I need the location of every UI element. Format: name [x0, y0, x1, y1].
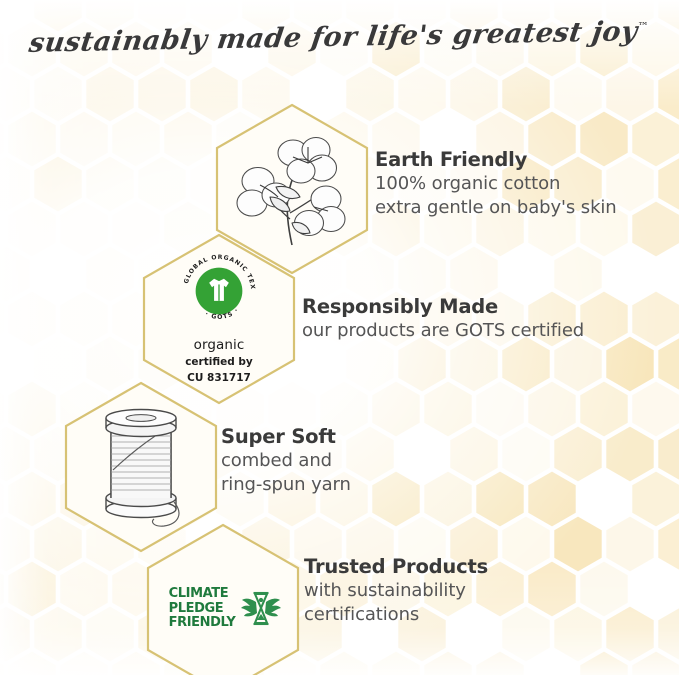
feature-caption-responsibly-made: Responsibly Made our products are GOTS c… — [302, 295, 584, 343]
feature-line: our products are GOTS certified — [302, 319, 584, 343]
gots-organic-label: organic — [194, 337, 245, 353]
climate-pledge-line-2: PLEDGE — [169, 602, 236, 617]
climate-pledge-line-3: FRIENDLY — [169, 616, 236, 631]
feature-caption-super-soft: Super Soft combed and ring-spun yarn — [221, 425, 351, 497]
infographic-panel: sustainably made for life's greatest joy… — [0, 0, 679, 675]
page-title: sustainably made for life's greatest joy… — [0, 22, 679, 53]
feature-title: Earth Friendly — [375, 148, 617, 172]
gots-certified-by: certified by — [185, 356, 253, 369]
feature-line: certifications — [304, 603, 488, 627]
winged-hourglass-icon — [241, 587, 281, 631]
headline-script-text: sustainably made for life's greatest joy — [27, 16, 640, 59]
climate-pledge-line-1: CLIMATE — [169, 587, 236, 602]
trademark-symbol: ™ — [638, 20, 649, 33]
feature-caption-trusted-products: Trusted Products with sustainability cer… — [304, 555, 488, 627]
feature-title: Trusted Products — [304, 555, 488, 579]
feature-line: with sustainability — [304, 579, 488, 603]
feature-line: combed and — [221, 449, 351, 473]
feature-line: ring-spun yarn — [221, 473, 351, 497]
feature-title: Responsibly Made — [302, 295, 584, 319]
feature-row-trusted-products: CLIMATE PLEDGE FRIENDLY — [145, 523, 655, 675]
feature-title: Super Soft — [221, 425, 351, 449]
feature-line: extra gentle on baby's skin — [375, 196, 617, 220]
feature-caption-earth-friendly: Earth Friendly 100% organic cotton extra… — [375, 148, 617, 220]
gots-organic-seal-icon: GLOBAL ORGANIC TEXTILE STANDARD · GOTS ·… — [141, 233, 297, 405]
climate-pledge-friendly-icon: CLIMATE PLEDGE FRIENDLY — [145, 523, 301, 675]
feature-line: 100% organic cotton — [375, 172, 617, 196]
